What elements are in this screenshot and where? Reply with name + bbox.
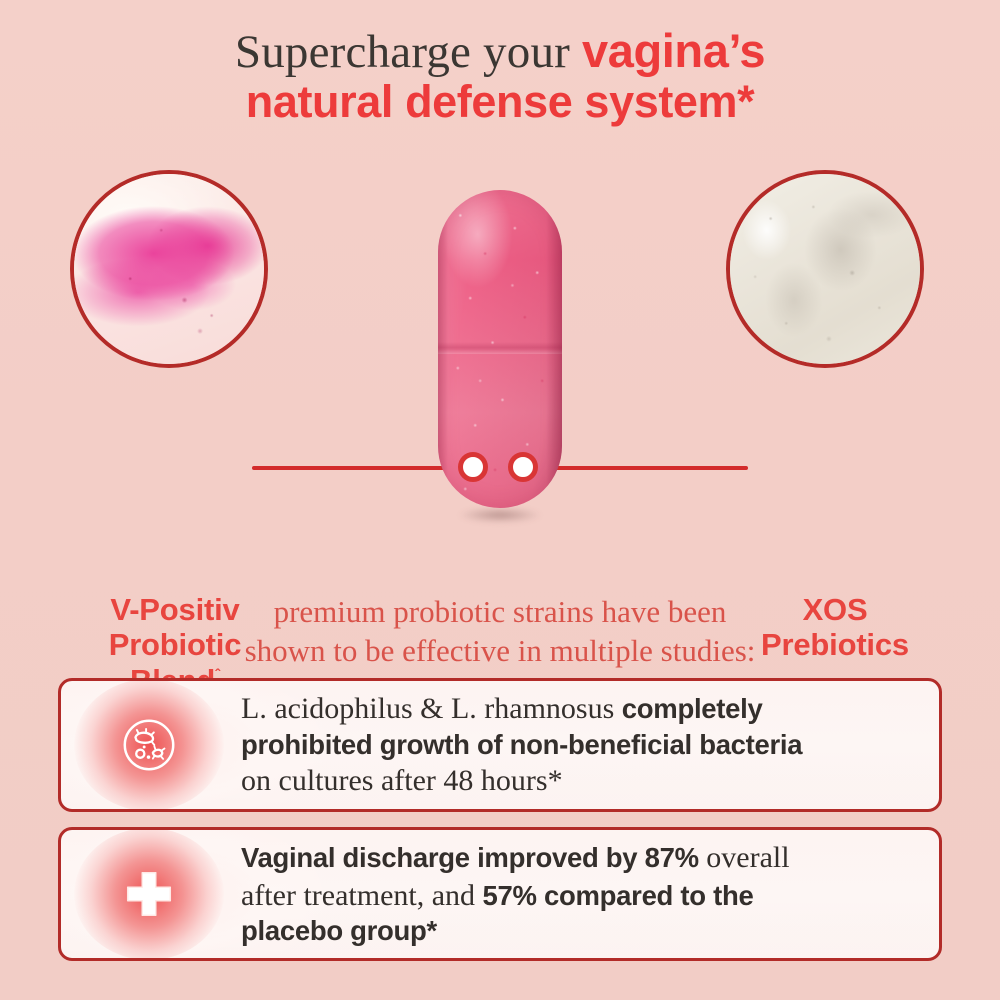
study-card-2: Vaginal discharge improved by 87% overal…	[58, 827, 942, 961]
study-1-bold-1: completely	[622, 693, 763, 724]
study-2-serif-2: after treatment, and	[241, 879, 483, 912]
medical-cross-icon	[118, 863, 180, 925]
study-2-bold-3: placebo group*	[241, 915, 437, 946]
bacteria-icon	[118, 714, 180, 776]
probiotic-swirl-texture-icon	[72, 172, 266, 366]
study-1-serif-tail: on cultures after 48 hours*	[241, 764, 563, 797]
headline-red-line1: vagina’s	[582, 24, 765, 77]
study-2-serif-1: overall	[699, 841, 790, 874]
product-ingredient-diagram: V-Positiv Probiotic Blendˆ XOS Prebiotic…	[0, 170, 1000, 570]
study-card-2-text: Vaginal discharge improved by 87% overal…	[237, 839, 939, 949]
subheading-line2: shown to be effective in multiple studie…	[0, 631, 1000, 670]
ingredient-bubble-probiotic	[70, 170, 268, 368]
capsule-illustration	[430, 190, 570, 520]
headline-red-line2: natural defense system*	[246, 76, 755, 127]
study-2-bold-2: 57% compared to the	[483, 880, 754, 911]
capsule-seam	[438, 342, 562, 354]
connector-dot-left	[458, 452, 488, 482]
connector-dot-right	[508, 452, 538, 482]
study-1-bold-2: prohibited growth of non-beneficial bact…	[241, 729, 802, 760]
study-2-bold-1: Vaginal discharge improved by 87%	[241, 842, 699, 873]
study-1-serif-lead: L. acidophilus & L. rhamnosus	[241, 692, 622, 725]
study-card-2-icon-area	[61, 830, 237, 958]
xos-powder-texture-icon	[728, 172, 922, 366]
page-title: Supercharge your vagina’s natural defens…	[0, 26, 1000, 126]
headline-serif-part: Supercharge your	[235, 26, 582, 78]
study-card-1-text: L. acidophilus & L. rhamnosus completely…	[237, 690, 939, 800]
study-card-1: L. acidophilus & L. rhamnosus completely…	[58, 678, 942, 812]
pink-capsule-icon	[438, 190, 562, 508]
capsule-edge-right	[546, 190, 562, 508]
study-card-1-icon-area	[61, 681, 237, 809]
infographic-page: Supercharge your vagina’s natural defens…	[0, 0, 1000, 1000]
subheading-line1: premium probiotic strains have been	[0, 592, 1000, 631]
ingredient-bubble-prebiotic	[726, 170, 924, 368]
subheading: premium probiotic strains have been show…	[0, 592, 1000, 670]
capsule-edge-left	[438, 190, 448, 508]
